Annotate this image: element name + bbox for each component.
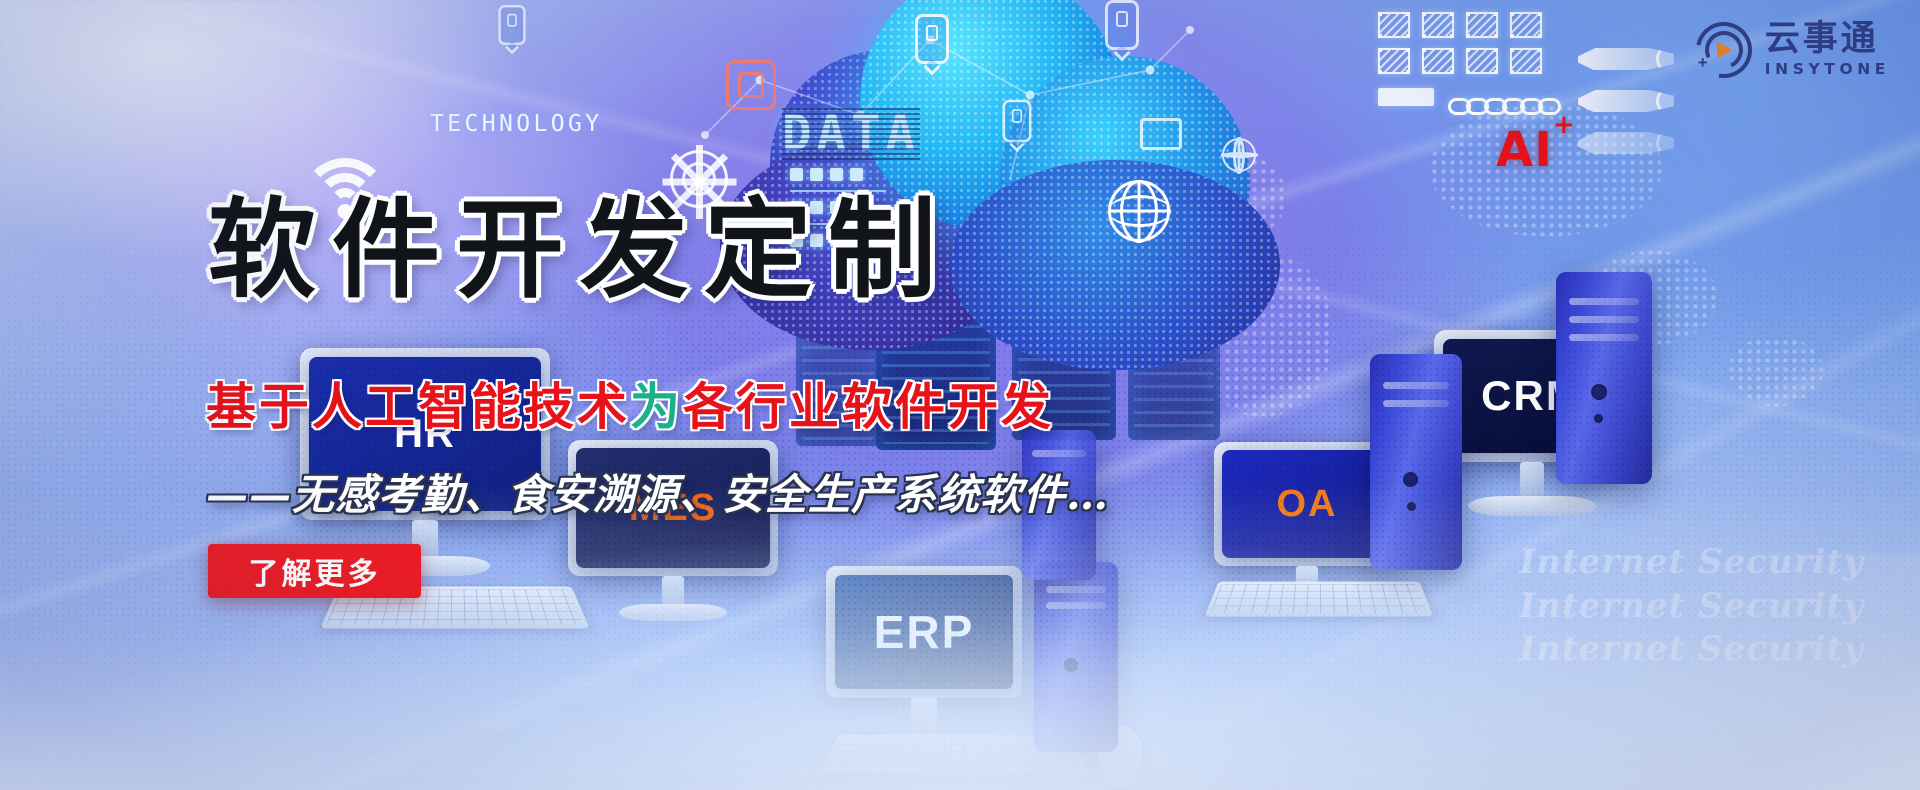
decorative-module-grid — [1378, 12, 1542, 74]
banner-subtitle: 基于人工智能技术为各行业软件开发 — [206, 382, 1054, 432]
ai-plus-superscript: + — [1553, 110, 1576, 140]
technology-label: TECHNOLOGY — [430, 111, 602, 137]
chain-link-icon — [1448, 98, 1556, 115]
decorative-tech-bars — [1578, 48, 1674, 174]
hero-banner: HR MES ERP OA CRM — [0, 0, 1920, 790]
ai-plus-label: AI+ — [1496, 122, 1576, 178]
subtitle-part-1: 基于人工智能技术 — [206, 377, 630, 436]
ai-plus-text: AI — [1496, 122, 1553, 178]
data-label: DATA — [782, 105, 920, 162]
brand-logo[interactable]: + 云事通 INSYTONE — [1696, 22, 1890, 78]
banner-tagline: ——无感考勤、食安溯源、安全生产系统软件… — [206, 474, 1109, 516]
subtitle-part-2: 各行业软件开发 — [683, 377, 1054, 436]
play-in-circle-icon: + — [1696, 22, 1752, 78]
logo-en-name: INSYTONE — [1765, 62, 1890, 78]
subtitle-highlight: 为 — [630, 377, 683, 436]
page-title: 软件开发定制 — [208, 196, 952, 304]
learn-more-button[interactable]: 了解更多 — [208, 544, 421, 598]
decorative-tag-bar — [1378, 88, 1434, 106]
logo-cn-name: 云事通 — [1765, 22, 1890, 57]
